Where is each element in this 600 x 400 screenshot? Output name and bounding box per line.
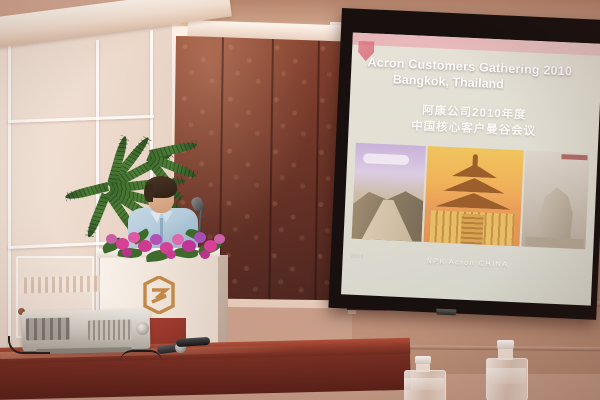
stone-lion-photo (521, 150, 589, 249)
water-bottle (404, 356, 448, 400)
presentation-room-photo: Acron Customers Gathering 2010 Bangkok, … (0, 0, 600, 400)
projection-screen[interactable]: Acron Customers Gathering 2010 Bangkok, … (328, 8, 600, 320)
slide-footer-text: NPK Acron CHINA (343, 254, 593, 272)
photo-caption-badge (561, 154, 587, 160)
flower-bloom (182, 240, 196, 252)
bottle-label (486, 368, 526, 384)
flower-bloom (214, 234, 225, 244)
great-wall-photo (352, 143, 426, 242)
hexagon-shield-logo-icon (143, 276, 175, 314)
bottle-cap (415, 356, 431, 364)
flower-bloom (150, 234, 162, 245)
bottle-neck (498, 348, 513, 360)
projector-cable (8, 336, 50, 354)
water-bottle (484, 338, 532, 400)
flower-bloom (194, 232, 206, 243)
flower-bloom (128, 232, 140, 243)
screen-bottom-clip (436, 309, 456, 316)
flower-bloom (122, 248, 132, 257)
lion-plinth (525, 237, 583, 250)
temple-roof-tier-2 (439, 177, 510, 194)
cloud (363, 153, 409, 165)
audio-cable (120, 350, 162, 362)
flower-arrangement (100, 218, 230, 264)
projector-vent (88, 320, 132, 341)
bottle-cap (497, 340, 514, 349)
stone-lion (534, 183, 581, 245)
flower-bloom (166, 250, 176, 259)
bottle-label (404, 378, 444, 390)
temple-stairway (460, 214, 483, 245)
temple-roof-tier-1 (447, 163, 502, 178)
presenter-hair-side (144, 184, 153, 202)
projector-lens-icon (136, 322, 149, 335)
temple-roof-tier-3 (431, 191, 516, 210)
slide-photo-strip (352, 143, 590, 250)
wall-panel-moulding (8, 46, 11, 346)
flower-bloom (200, 250, 210, 259)
presentation-slide[interactable]: Acron Customers Gathering 2010 Bangkok, … (341, 33, 600, 306)
temple-of-heaven-photo (423, 146, 523, 246)
